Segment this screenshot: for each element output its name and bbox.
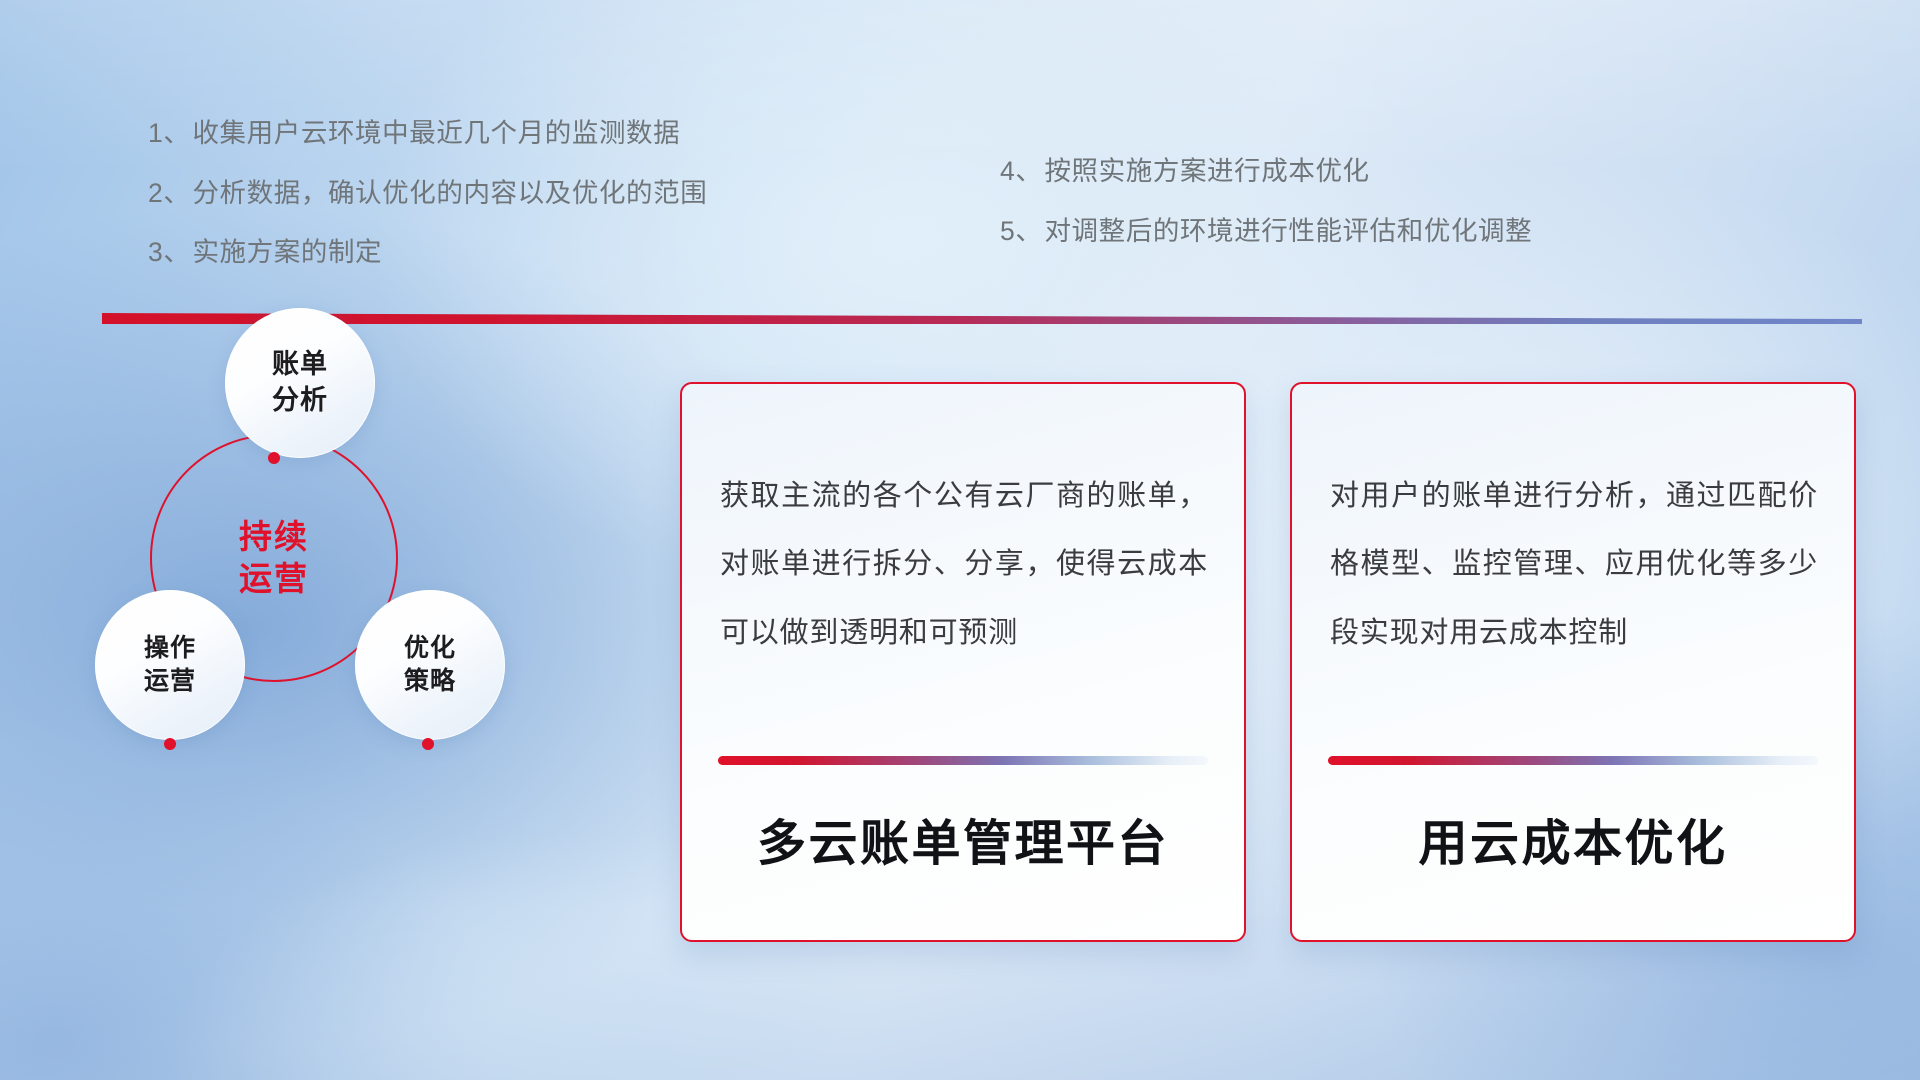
step-item: 5、对调整后的环境进行性能评估和优化调整 [1000, 218, 1532, 245]
venn-circle-label-line1: 优化 [404, 632, 456, 665]
card-accent-rule [718, 756, 1208, 765]
step-number: 3、 [148, 237, 190, 267]
steps-left-column: 1、收集用户云环境中最近几个月的监测数据 2、分析数据，确认优化的内容以及优化的… [148, 120, 707, 299]
venn-node-dot-bottom-right [422, 738, 434, 750]
divider-gradient-wedge [102, 313, 1862, 324]
step-number: 5、 [1000, 216, 1042, 246]
card-title: 用云成本优化 [1292, 804, 1854, 875]
slide-stage: 1、收集用户云环境中最近几个月的监测数据 2、分析数据，确认优化的内容以及优化的… [0, 0, 1920, 1080]
feature-card-cost-optimization[interactable]: 对用户的账单进行分析，通过匹配价格模型、监控管理、应用优化等多少段实现对用云成本… [1290, 382, 1856, 942]
step-text: 分析数据，确认优化的内容以及优化的范围 [192, 178, 707, 208]
venn-node-dot-bottom-left [164, 738, 176, 750]
step-item: 3、实施方案的制定 [148, 239, 707, 266]
venn-center-label-line2: 运营 [239, 558, 309, 600]
steps-section: 1、收集用户云环境中最近几个月的监测数据 2、分析数据，确认优化的内容以及优化的… [0, 0, 1920, 300]
card-accent-rule [1328, 756, 1818, 765]
step-text: 按照实施方案进行成本优化 [1044, 156, 1369, 186]
step-number: 2、 [148, 178, 190, 208]
step-item: 1、收集用户云环境中最近几个月的监测数据 [148, 120, 707, 147]
step-number: 4、 [1000, 156, 1042, 186]
venn-diagram: 操作 运营 优化 策略 账单 分析 持续 运营 [92, 352, 572, 822]
venn-circle-label-line1: 账单 [272, 347, 328, 383]
card-title: 多云账单管理平台 [682, 804, 1244, 875]
venn-node-dot-top [268, 452, 280, 464]
steps-right-column: 4、按照实施方案进行成本优化 5、对调整后的环境进行性能评估和优化调整 [1000, 158, 1532, 277]
step-number: 1、 [148, 118, 190, 148]
step-text: 收集用户云环境中最近几个月的监测数据 [192, 118, 680, 148]
card-body-text: 对用户的账单进行分析，通过匹配价格模型、监控管理、应用优化等多少段实现对用云成本… [1330, 462, 1818, 667]
step-item: 4、按照实施方案进行成本优化 [1000, 158, 1532, 185]
step-text: 实施方案的制定 [192, 237, 382, 267]
step-text: 对调整后的环境进行性能评估和优化调整 [1044, 216, 1532, 246]
venn-center-label: 持续 运营 [150, 434, 398, 682]
feature-card-billing-platform[interactable]: 获取主流的各个公有云厂商的账单，对账单进行拆分、分享，使得云成本可以做到透明和可… [680, 382, 1246, 942]
venn-circle-label-line2: 分析 [272, 383, 328, 419]
venn-circle-label-line2: 策略 [404, 665, 456, 698]
section-divider [102, 313, 1862, 324]
step-item: 2、分析数据，确认优化的内容以及优化的范围 [148, 180, 707, 207]
venn-center-label-line1: 持续 [239, 516, 309, 558]
card-body-text: 获取主流的各个公有云厂商的账单，对账单进行拆分、分享，使得云成本可以做到透明和可… [720, 462, 1208, 667]
